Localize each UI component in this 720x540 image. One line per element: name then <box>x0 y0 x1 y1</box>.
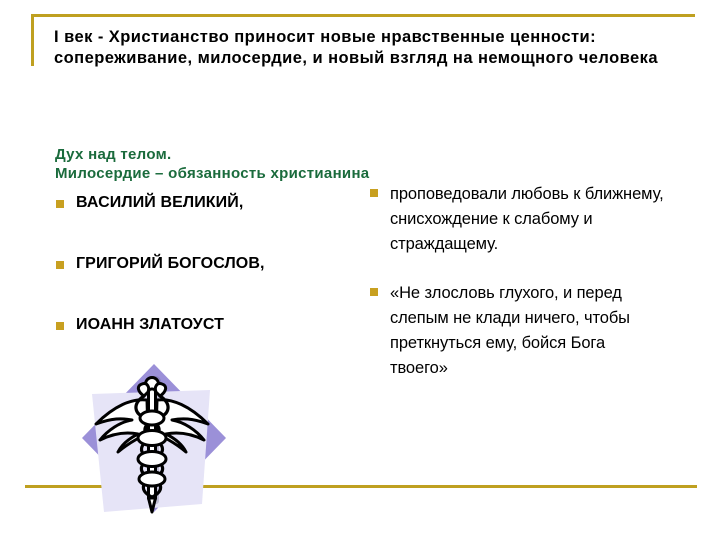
slide-canvas: I век - Христианство приносит новые нрав… <box>0 0 720 540</box>
list-item: проповедовали любовь к ближнему, снисхож… <box>366 182 666 257</box>
list-item-label: ИОАНН ЗЛАТОУСТ <box>76 314 352 336</box>
list-item-label: «Не злословь глухого, и перед слепым не … <box>390 281 666 381</box>
square-bullet-icon <box>56 322 64 330</box>
square-bullet-icon <box>56 200 64 208</box>
caduceus-illustration <box>74 362 234 517</box>
list-item: ВАСИЛИЙ ВЕЛИКИЙ, <box>52 192 352 214</box>
slide-title: I век - Христианство приносит новые нрав… <box>54 27 694 69</box>
list-item-label: ВАСИЛИЙ ВЕЛИКИЙ, <box>76 192 352 214</box>
list-item: «Не злословь глухого, и перед слепым не … <box>366 281 666 381</box>
top-gold-rule-horizontal <box>31 14 695 17</box>
slide-subtitle: Дух над телом. Милосердие – обязанность … <box>55 145 525 183</box>
square-bullet-icon <box>370 288 378 296</box>
list-item: ИОАНН ЗЛАТОУСТ <box>52 314 352 336</box>
list-item-label: проповедовали любовь к ближнему, снисхож… <box>390 182 666 257</box>
top-gold-rule-vertical <box>31 14 34 66</box>
list-item-label: ГРИГОРИЙ БОГОСЛОВ, <box>76 253 352 275</box>
square-bullet-icon <box>56 261 64 269</box>
list-item: ГРИГОРИЙ БОГОСЛОВ, <box>52 253 352 275</box>
left-bullet-column: ВАСИЛИЙ ВЕЛИКИЙ, ГРИГОРИЙ БОГОСЛОВ, ИОАН… <box>52 192 352 375</box>
right-bullet-column: проповедовали любовь к ближнему, снисхож… <box>366 182 666 405</box>
square-bullet-icon <box>370 189 378 197</box>
